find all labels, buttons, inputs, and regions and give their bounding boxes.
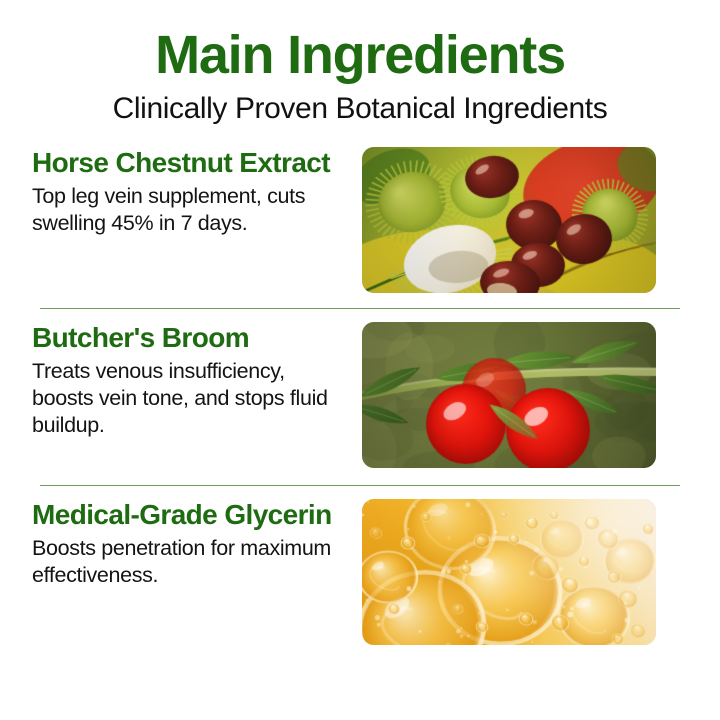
- ingredient-name: Horse Chestnut Extract: [32, 147, 348, 179]
- horse-chestnut-image: [362, 147, 656, 293]
- ingredient-row: Horse Chestnut Extract Top leg vein supp…: [0, 145, 720, 295]
- divider: [40, 485, 680, 486]
- ingredient-name: Butcher's Broom: [32, 322, 348, 354]
- glycerin-oil-photo: [362, 499, 656, 645]
- butchers-broom-image: [362, 322, 656, 468]
- ingredient-name: Medical-Grade Glycerin: [32, 499, 348, 531]
- page-title: Main Ingredients: [0, 26, 720, 84]
- ingredient-text-block: Butcher's Broom Treats venous insufficie…: [32, 322, 362, 439]
- ingredient-text-block: Medical-Grade Glycerin Boosts penetratio…: [32, 499, 362, 589]
- header: Main Ingredients Clinically Proven Botan…: [0, 0, 720, 127]
- page-subtitle: Clinically Proven Botanical Ingredients: [0, 92, 720, 127]
- ingredient-description: Top leg vein supplement, cuts swelling 4…: [32, 183, 348, 237]
- ingredient-description: Treats venous insufficiency, boosts vein…: [32, 358, 348, 439]
- glycerin-oil-image: [362, 499, 656, 645]
- ingredient-row: Medical-Grade Glycerin Boosts penetratio…: [0, 499, 720, 649]
- ingredient-text-block: Horse Chestnut Extract Top leg vein supp…: [32, 147, 362, 237]
- butchers-broom-photo: [362, 322, 656, 468]
- ingredient-description: Boosts penetration for maximum effective…: [32, 535, 348, 589]
- horse-chestnut-photo: [362, 147, 656, 293]
- ingredient-row: Butcher's Broom Treats venous insufficie…: [0, 322, 720, 472]
- divider: [40, 308, 680, 309]
- ingredients-infographic: Main Ingredients Clinically Proven Botan…: [0, 0, 720, 720]
- ingredient-list: Horse Chestnut Extract Top leg vein supp…: [0, 145, 720, 649]
